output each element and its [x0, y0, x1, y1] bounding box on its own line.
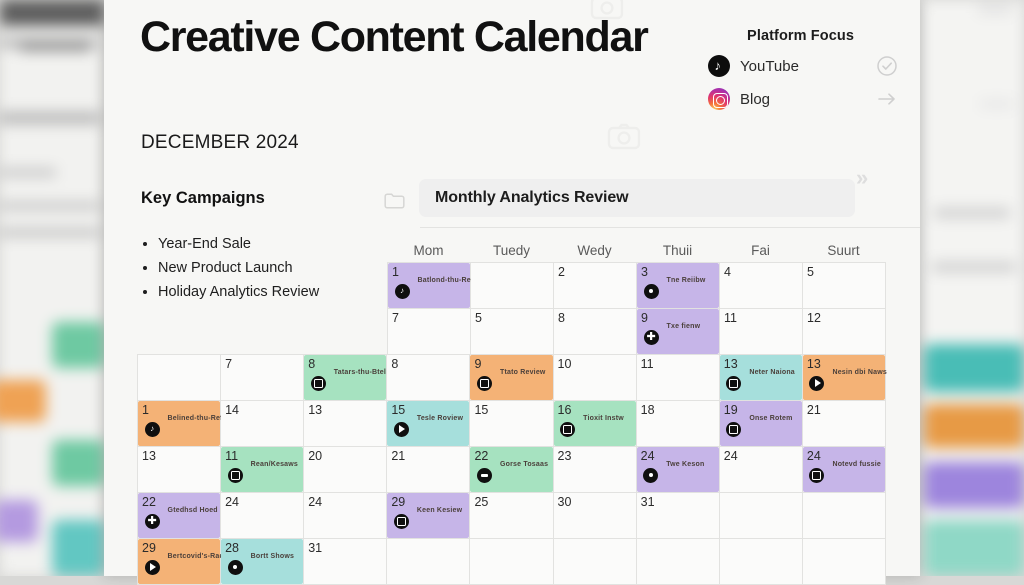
- calendar-day-cell[interactable]: 31: [637, 493, 720, 539]
- instagram-icon: [708, 88, 730, 110]
- calendar-day-cell[interactable]: 21: [387, 447, 470, 493]
- calendar-day-cell[interactable]: Rean/Kesaws11: [221, 447, 304, 493]
- calendar-day-cell[interactable]: Twe Keson24: [637, 447, 720, 493]
- calendar-day-number: 13: [142, 450, 220, 463]
- key-campaigns-list: Year-End Sale New Product Launch Holiday…: [141, 232, 319, 304]
- platform-focus-item-blog[interactable]: Blog: [708, 88, 898, 110]
- search-input-value: Monthly Analytics Review: [435, 189, 629, 207]
- calendar-day-cell[interactable]: 23: [554, 447, 637, 493]
- calendar-day-cell[interactable]: [471, 263, 554, 309]
- calendar-day-number: 5: [807, 266, 885, 279]
- calendar-day-number: 8: [391, 358, 469, 371]
- calendar-day-number: 30: [558, 496, 636, 509]
- plus-icon: ✚: [145, 514, 160, 529]
- calendar-day-cell[interactable]: [803, 493, 886, 539]
- tiktok-icon: ♪: [708, 55, 730, 77]
- platform-focus-heading: Platform Focus: [708, 28, 898, 44]
- list-item: Year-End Sale: [158, 232, 319, 256]
- play-icon: [394, 422, 409, 437]
- dot-icon: [643, 468, 658, 483]
- calendar-day-number: 31: [641, 496, 719, 509]
- calendar-day-cell[interactable]: Keen Kesiew29: [387, 493, 470, 539]
- calendar-day-cell[interactable]: Tioxit Instw16: [554, 401, 637, 447]
- weekday-label: Wedy: [553, 243, 636, 258]
- music-note-icon: ♪: [145, 422, 160, 437]
- calendar-day-cell[interactable]: 11: [637, 355, 720, 401]
- page-subtitle: DECEMBER 2024: [141, 132, 299, 154]
- calendar-icon: [311, 376, 326, 391]
- calendar-day-number: 29: [142, 542, 220, 555]
- calendar-day-cell[interactable]: Onse Rotem19: [720, 401, 803, 447]
- calendar-icon: [726, 376, 741, 391]
- calendar-day-cell[interactable]: 30: [554, 493, 637, 539]
- calendar-day-cell[interactable]: [470, 539, 553, 585]
- square-icon: [477, 376, 492, 391]
- calendar-day-number: 9: [641, 312, 719, 325]
- calendar-day-cell[interactable]: 13: [304, 401, 387, 447]
- calendar-day-cell[interactable]: 24: [221, 493, 304, 539]
- calendar-day-cell[interactable]: Txe fienw✚9: [637, 309, 720, 355]
- weekday-label: Suurt: [802, 243, 885, 258]
- calendar-day-number: 22: [474, 450, 552, 463]
- calendar-day-cell[interactable]: Tesle Roview15: [387, 401, 470, 447]
- calendar-grid-bottom: 7Tatars-thu-Btel88Ttato Review91011Neter…: [137, 354, 886, 585]
- calendar-day-cell[interactable]: 5: [471, 309, 554, 355]
- play-icon: [145, 560, 160, 575]
- calendar-day-number: 16: [558, 404, 636, 417]
- calendar-day-cell[interactable]: 31: [304, 539, 387, 585]
- calendar-day-number: 4: [724, 266, 802, 279]
- calendar-day-number: 13: [308, 404, 386, 417]
- calendar-day-cell[interactable]: Batlond-thu-Ref♪1: [388, 263, 471, 309]
- calendar-day-cell[interactable]: [554, 539, 637, 585]
- weekday-label: Mom: [387, 243, 470, 258]
- calendar-day-number: 14: [225, 404, 303, 417]
- list-item: Holiday Analytics Review: [158, 280, 319, 304]
- calendar-grid-top: Batlond-thu-Ref♪12Tne Reiibw345758Txe fi…: [387, 262, 886, 355]
- calendar-day-cell[interactable]: Tatars-thu-Btel8: [304, 355, 387, 401]
- calendar-day-number: 2: [558, 266, 636, 279]
- calendar-day-cell[interactable]: 13: [138, 447, 221, 493]
- calendar-day-cell[interactable]: 25: [470, 493, 553, 539]
- calendar-day-number: 28: [225, 542, 303, 555]
- calendar-day-cell[interactable]: Nesin dbi Naws13: [803, 355, 886, 401]
- platform-focus-label: Blog: [740, 91, 770, 108]
- calendar-day-number: 11: [641, 358, 719, 371]
- calendar-day-cell[interactable]: 7: [388, 309, 471, 355]
- key-campaigns-heading: Key Campaigns: [141, 189, 265, 208]
- calendar-day-number: 8: [308, 358, 386, 371]
- calendar-day-cell[interactable]: 5: [803, 263, 886, 309]
- calendar-day-number: 9: [474, 358, 552, 371]
- calendar-day-number: 24: [641, 450, 719, 463]
- calendar-day-cell[interactable]: [387, 539, 470, 585]
- calendar-day-number: 21: [391, 450, 469, 463]
- calendar-day-number: 15: [391, 404, 469, 417]
- calendar-icon: [560, 422, 575, 437]
- calendar-day-cell[interactable]: Bortt Shows28: [221, 539, 304, 585]
- calendar-day-cell[interactable]: Gtedhsd Hoed✚22: [138, 493, 221, 539]
- calendar-icon: [228, 468, 243, 483]
- calendar-day-number: 7: [225, 358, 303, 371]
- platform-focus-item-youtube[interactable]: ♪ YouTube: [708, 55, 898, 77]
- calendar-day-number: 22: [142, 496, 220, 509]
- backdrop-right: [920, 0, 1024, 576]
- calendar-day-number: 25: [474, 496, 552, 509]
- calendar-day-number: 10: [558, 358, 636, 371]
- backdrop-left: [0, 0, 104, 576]
- calendar-day-number: 15: [474, 404, 552, 417]
- calendar-day-cell[interactable]: 18: [637, 401, 720, 447]
- calendar-day-cell[interactable]: [720, 493, 803, 539]
- calendar-day-number: 11: [724, 312, 802, 325]
- calendar-day-number: 24: [308, 496, 386, 509]
- weekday-header-row: Mom Tuedy Wedy Thuii Fai Suurt: [387, 243, 885, 258]
- calendar-day-number: 7: [392, 312, 470, 325]
- music-note-icon: ♪: [395, 284, 410, 299]
- platform-focus-label: YouTube: [740, 58, 799, 75]
- calendar-day-cell[interactable]: [803, 539, 886, 585]
- calendar-icon: [809, 468, 824, 483]
- weekday-label: Thuii: [636, 243, 719, 258]
- weekday-label: Tuedy: [470, 243, 553, 258]
- calendar-day-number: 1: [392, 266, 470, 279]
- calendar-day-cell[interactable]: [637, 539, 720, 585]
- calendar-day-cell[interactable]: 11: [720, 309, 803, 355]
- calendar-day-cell[interactable]: 15: [470, 401, 553, 447]
- calendar-day-number: 23: [558, 450, 636, 463]
- calendar-day-cell[interactable]: 20: [304, 447, 387, 493]
- calendar-day-number: 8: [558, 312, 636, 325]
- weekday-label: Fai: [719, 243, 802, 258]
- check-circle-icon[interactable]: [876, 55, 898, 77]
- calendar-day-cell[interactable]: 2: [554, 263, 637, 309]
- double-chevron-right-icon[interactable]: »: [856, 165, 865, 191]
- calendar-day-cell[interactable]: 8: [387, 355, 470, 401]
- calendar-day-number: 18: [641, 404, 719, 417]
- calendar-day-number: 19: [724, 404, 802, 417]
- calendar-day-cell[interactable]: [138, 355, 221, 401]
- calendar-day-cell[interactable]: 14: [221, 401, 304, 447]
- calendar-icon: [726, 422, 741, 437]
- calendar-day-number: 31: [308, 542, 386, 555]
- dot-icon: [644, 284, 659, 299]
- calendar-day-cell[interactable]: [720, 539, 803, 585]
- calendar-day-number: 20: [308, 450, 386, 463]
- arrow-right-icon[interactable]: [876, 88, 898, 110]
- calendar-day-cell[interactable]: Neter Naiona13: [720, 355, 803, 401]
- folder-icon[interactable]: [384, 192, 405, 209]
- calendar-day-number: 21: [807, 404, 885, 417]
- calendar-day-cell[interactable]: 4: [720, 263, 803, 309]
- bar-icon: [477, 468, 492, 483]
- page-title: Creative Content Calendar: [140, 14, 660, 61]
- calendar-day-cell[interactable]: Belined-thu-Ref♪1: [138, 401, 221, 447]
- search-input[interactable]: Monthly Analytics Review: [419, 179, 855, 217]
- calendar-day-cell[interactable]: 8: [554, 309, 637, 355]
- play-icon: [809, 376, 824, 391]
- calendar-day-cell[interactable]: 21: [803, 401, 886, 447]
- camera-watermark-icon-2: [607, 122, 641, 150]
- calendar-day-cell[interactable]: Notevd fussie24: [803, 447, 886, 493]
- calendar-day-cell[interactable]: 24: [304, 493, 387, 539]
- calendar-day-number: 24: [225, 496, 303, 509]
- calendar-day-number: 12: [807, 312, 885, 325]
- calendar-day-cell[interactable]: Bertcovid's-Rad29: [138, 539, 221, 585]
- calendar-day-number: 5: [475, 312, 553, 325]
- calendar-day-number: 24: [724, 450, 802, 463]
- calendar-day-cell[interactable]: Ttato Review9: [470, 355, 553, 401]
- calendar-day-number: 1: [142, 404, 220, 417]
- calendar-day-cell[interactable]: 7: [221, 355, 304, 401]
- calendar-icon: [394, 514, 409, 529]
- calendar-page: Creative Content Calendar DECEMBER 2024 …: [104, 0, 920, 576]
- calendar-day-cell[interactable]: Gorse Tosaas22: [470, 447, 553, 493]
- calendar-day-number: 3: [641, 266, 719, 279]
- plus-icon: ✚: [644, 330, 659, 345]
- calendar-day-number: 11: [225, 450, 303, 463]
- calendar-day-cell[interactable]: 24: [720, 447, 803, 493]
- dot-icon: [228, 560, 243, 575]
- platform-focus-panel: Platform Focus ♪ YouTube Blog: [708, 28, 898, 110]
- calendar-day-number: 13: [807, 358, 885, 371]
- calendar-day-cell[interactable]: 12: [803, 309, 886, 355]
- calendar-day-number: 13: [724, 358, 802, 371]
- calendar-day-number: 29: [391, 496, 469, 509]
- divider: [420, 227, 920, 228]
- calendar-day-number: 24: [807, 450, 885, 463]
- list-item: New Product Launch: [158, 256, 319, 280]
- calendar-day-cell[interactable]: 10: [554, 355, 637, 401]
- calendar-day-cell[interactable]: Tne Reiibw3: [637, 263, 720, 309]
